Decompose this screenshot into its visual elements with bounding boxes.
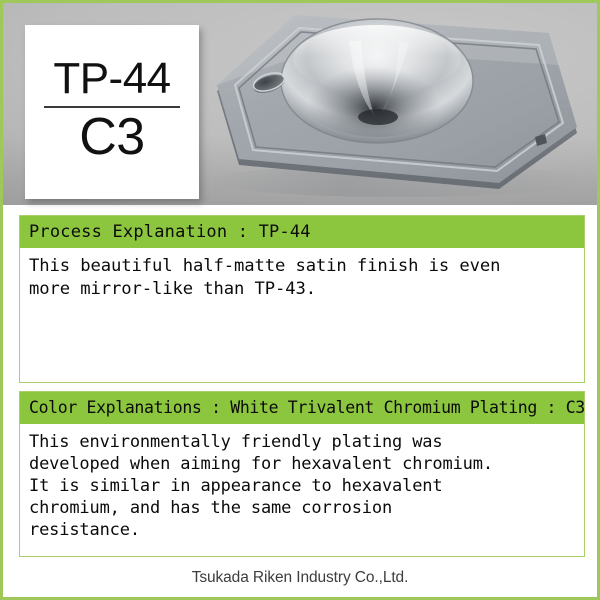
page-frame: TP-44 C3 Process Explanation : TP-44 Thi… (0, 0, 600, 600)
footer: Tsukada Riken Industry Co.,Ltd. (3, 559, 597, 597)
process-explanation-body: This beautiful half-matte satin finish i… (20, 248, 584, 308)
color-explanation-header: Color Explanations : White Trivalent Chr… (20, 392, 584, 424)
color-code-label: C3 (79, 110, 144, 165)
process-explanation-header: Process Explanation : TP-44 (20, 216, 584, 248)
process-explanation-panel: Process Explanation : TP-44 This beautif… (19, 215, 585, 383)
product-code-card: TP-44 C3 (25, 25, 199, 199)
color-explanation-body: This environmentally friendly plating wa… (20, 424, 584, 549)
company-name: Tsukada Riken Industry Co.,Ltd. (192, 569, 409, 587)
process-code-label: TP-44 (53, 56, 170, 102)
product-render (199, 5, 595, 205)
color-explanation-panel: Color Explanations : White Trivalent Chr… (19, 391, 585, 557)
